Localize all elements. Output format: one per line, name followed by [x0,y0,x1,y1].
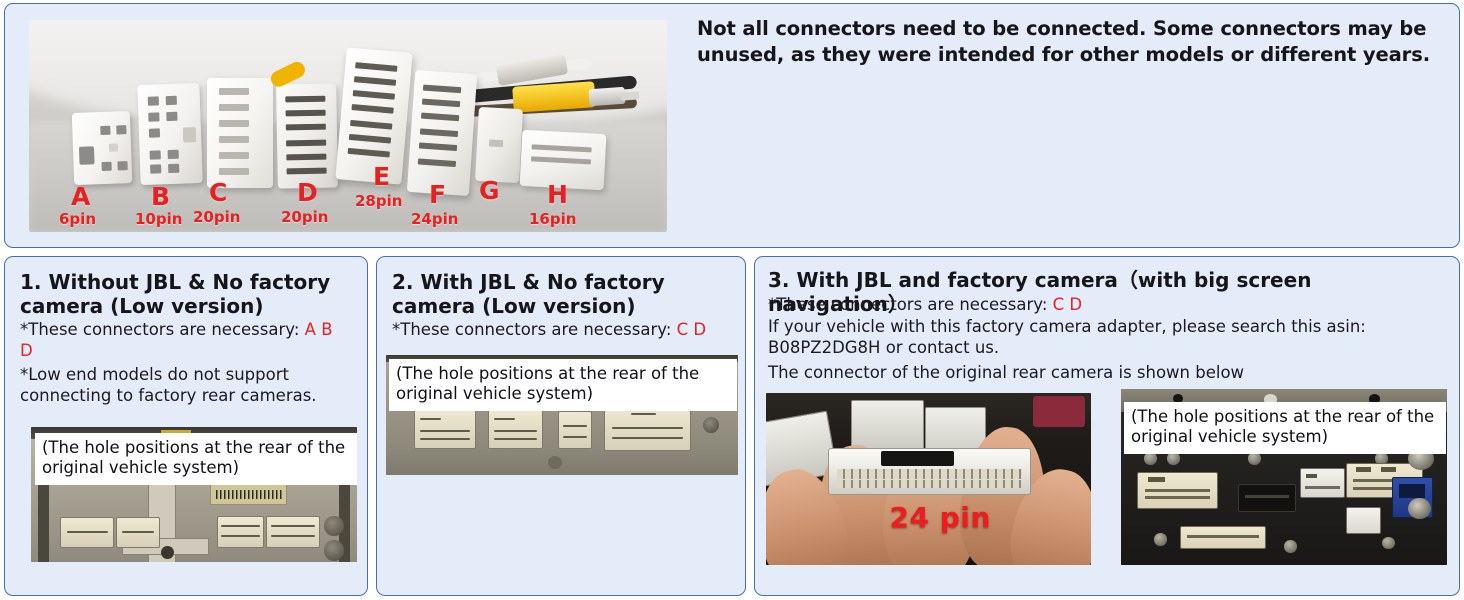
hand-holding-connector-illustration: 24 pin [766,393,1091,565]
panel1-extra-note: *Low end models do not support connectin… [20,365,355,407]
panel1-necessary: *These connectors are necessary: A B D [20,320,350,362]
connector-label-c-pins: 20pin [193,210,240,225]
panel3-necessary-prefix: *These connectors are necessary: [768,295,1053,314]
connector-b [137,83,202,185]
panel2-title: 2. With JBL & No factory camera (Low ver… [392,270,722,319]
panel1-rear-photo: (The hole positions at the rear of the o… [31,427,357,562]
panel3-necessary: *These connectors are necessary: C D [768,295,1448,316]
top-panel: A 6pin B 10pin C 20pin D 20pin E 28pin F… [4,3,1460,248]
panel-with-jbl-and-camera: 3. With JBL and factory camera（with big … [754,256,1460,596]
top-panel-note: Not all connectors need to be connected.… [697,16,1437,68]
connector-a [72,111,132,185]
panel2-necessary-codes: C D [677,320,706,339]
panel1-necessary-prefix: *These connectors are necessary: [20,320,305,339]
panel-with-jbl-no-camera: 2. With JBL & No factory camera (Low ver… [376,256,746,596]
panel-without-jbl-no-camera: 1. Without JBL & No factory camera (Low … [4,256,368,596]
panel1-title: 1. Without JBL & No factory camera (Low … [20,270,340,319]
panel3-24pin-label: 24 pin [890,501,991,534]
connector-g [475,107,523,183]
connector-label-g-letter: G [479,178,500,203]
connector-label-f-pins: 24pin [411,212,458,227]
connector-label-e-pins: 28pin [355,194,402,209]
panel3-asin-line: If your vehicle with this factory camera… [768,317,1428,359]
connector-harness-photo: A 6pin B 10pin C 20pin D 20pin E 28pin F… [29,20,667,232]
connector-f [407,70,477,196]
panel2-photo-caption: (The hole positions at the rear of the o… [389,359,737,411]
24-pin-connector [828,448,1032,495]
connector-d [276,83,338,188]
connector-label-h-pins: 16pin [529,212,576,227]
instruction-sheet: A 6pin B 10pin C 20pin D 20pin E 28pin F… [0,0,1464,600]
panel2-rear-photo: (The hole positions at the rear of the o… [386,355,738,475]
connector-c [207,78,273,188]
connector-label-c-letter: C [209,180,227,205]
connector-label-b-pins: 10pin [135,212,182,227]
panel3-below-line: The connector of the original rear camer… [768,363,1428,384]
connector-label-d-letter: D [297,180,318,205]
connector-label-a-pins: 6pin [59,212,96,227]
panel1-photo-caption: (The hole positions at the rear of the o… [35,433,357,485]
connector-label-f-letter: F [429,182,446,207]
connector-label-b-letter: B [151,184,170,209]
connector-label-e-letter: E [373,164,390,189]
panel3-photo-caption: (The hole positions at the rear of the o… [1124,402,1446,454]
panel2-necessary-prefix: *These connectors are necessary: [392,320,677,339]
connector-label-a-letter: A [71,184,90,209]
panel3-rear-photo: (The hole positions at the rear of the o… [1121,389,1447,565]
connector-label-d-pins: 20pin [281,210,328,225]
panel3-necessary-codes: C D [1053,295,1082,314]
panel3-connector-photo: 24 pin [766,393,1091,565]
connector-label-h-letter: H [547,182,568,207]
panel2-necessary: *These connectors are necessary: C D [392,320,737,341]
